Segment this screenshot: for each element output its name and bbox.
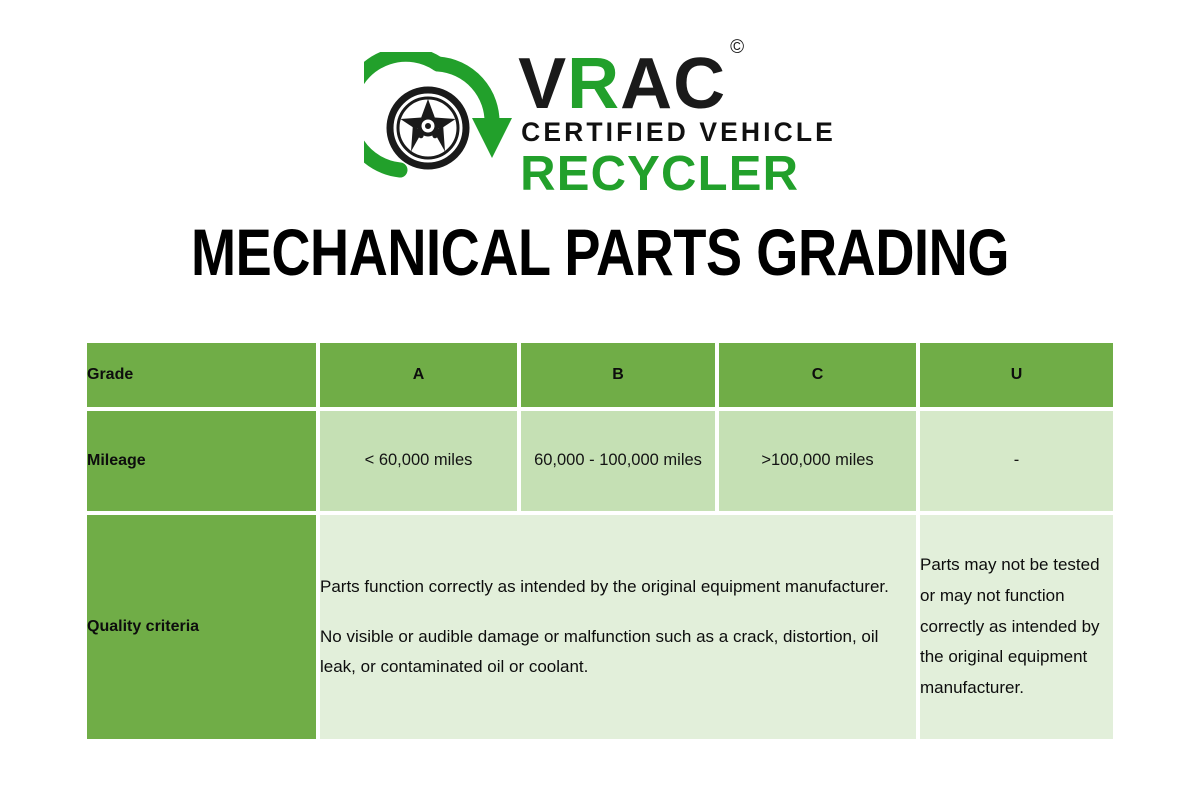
logo-wordmark: VRAC© CERTIFIED VEHICLE RECYCLER: [518, 52, 836, 199]
quality-criteria-paragraph-1: Parts function correctly as intended by …: [320, 572, 916, 602]
table-row-mileage: Mileage < 60,000 miles 60,000 - 100,000 …: [85, 409, 1115, 513]
row-label-quality-criteria: Quality criteria: [85, 513, 318, 741]
brand-letters-ac: AC: [620, 44, 726, 124]
quality-criteria-cell-u: Parts may not be tested or may not funct…: [918, 513, 1115, 741]
header-cell-grade: Grade: [85, 341, 318, 409]
mileage-cell-u: -: [918, 409, 1115, 513]
quality-criteria-cell-abc: Parts function correctly as intended by …: [318, 513, 918, 741]
logo-recycler-word: RECYCLER: [520, 150, 836, 199]
brand-name: VRAC©: [518, 54, 836, 115]
brand-letter-v: V: [518, 44, 567, 124]
vrac-logo: VRAC© CERTIFIED VEHICLE RECYCLER: [0, 48, 1200, 203]
page-title: MECHANICAL PARTS GRADING: [108, 214, 1092, 290]
mechanical-parts-grading-table: Grade A B C U Mileage < 60,000 miles 60,…: [85, 341, 1115, 741]
copyright-icon: ©: [730, 37, 745, 58]
recycle-wheel-icon: [364, 52, 512, 200]
logo-inner: VRAC© CERTIFIED VEHICLE RECYCLER: [364, 52, 836, 200]
table-header-row: Grade A B C U: [85, 341, 1115, 409]
mileage-cell-a: < 60,000 miles: [318, 409, 519, 513]
header-cell-grade-b: B: [519, 341, 717, 409]
table-row-quality-criteria: Quality criteria Parts function correctl…: [85, 513, 1115, 741]
brand-letter-r: R: [567, 44, 620, 124]
header-cell-grade-u: U: [918, 341, 1115, 409]
mileage-cell-b: 60,000 - 100,000 miles: [519, 409, 717, 513]
header-cell-grade-c: C: [717, 341, 918, 409]
header-cell-grade-a: A: [318, 341, 519, 409]
row-label-mileage: Mileage: [85, 409, 318, 513]
mileage-cell-c: >100,000 miles: [717, 409, 918, 513]
quality-criteria-paragraph-2: No visible or audible damage or malfunct…: [320, 622, 916, 682]
